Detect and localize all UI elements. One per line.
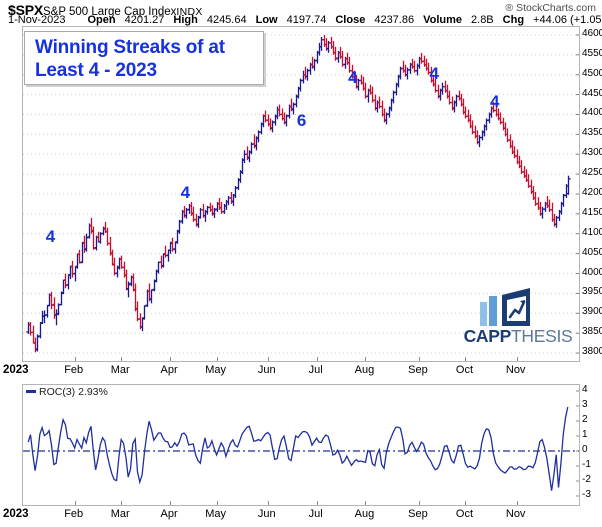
x-tick-label: Mar bbox=[111, 508, 130, 520]
open-value: 4201.27 bbox=[125, 14, 165, 26]
chart-title-line2: Least 4 - 2023 bbox=[35, 60, 157, 81]
price-y-tick-label: 3950 bbox=[582, 287, 602, 296]
roc-y-axis: 43210-1-2-3 bbox=[582, 384, 602, 504]
x-tick-label: Nov bbox=[506, 364, 526, 376]
roc-y-tick-label: -2 bbox=[582, 475, 591, 484]
quote-date: 1-Nov-2023 bbox=[8, 14, 65, 26]
roc-legend: ROC(3) 2.93% bbox=[26, 386, 108, 398]
high-label: High bbox=[173, 14, 197, 26]
low-value: 4197.74 bbox=[287, 14, 327, 26]
roc-y-tick-label: 4 bbox=[582, 385, 588, 394]
chart-title-line1: Winning Streaks of at bbox=[35, 37, 225, 58]
x-tick-label: Jul bbox=[309, 508, 323, 520]
close-label: Close bbox=[335, 14, 365, 26]
ohlc-bar bbox=[91, 227, 95, 250]
chart-title-callout: Winning Streaks of at Least 4 - 2023 bbox=[24, 31, 264, 85]
roc-legend-swatch-icon bbox=[26, 390, 36, 393]
x-tick-label: Mar bbox=[111, 364, 130, 376]
roc-y-tick-label: 2 bbox=[582, 415, 588, 424]
price-y-tick-label: 3800 bbox=[582, 347, 602, 356]
price-x-axis: 2023FebMarAprMayJunJulAugSepOctNov bbox=[0, 364, 602, 378]
logo-word-thesis: THESIS bbox=[511, 326, 572, 346]
price-y-tick-label: 3850 bbox=[582, 327, 602, 336]
price-y-tick-label: 4250 bbox=[582, 168, 602, 177]
streak-count-marker: 4 bbox=[181, 184, 190, 201]
x-tick-label: Feb bbox=[64, 508, 83, 520]
roc-y-tick-label: -3 bbox=[582, 490, 591, 499]
price-y-tick-label: 4450 bbox=[582, 89, 602, 98]
header-quote-line: 1-Nov-2023Open4201.27High4245.64Low4197.… bbox=[8, 14, 602, 26]
price-y-tick-label: 4400 bbox=[582, 108, 602, 117]
high-value: 4245.64 bbox=[207, 14, 247, 26]
chart-title-text: Winning Streaks of at Least 4 - 2023 bbox=[35, 36, 259, 82]
price-y-tick-label: 4100 bbox=[582, 228, 602, 237]
x-tick-label: 2023 bbox=[3, 364, 29, 376]
price-y-tick-label: 4050 bbox=[582, 248, 602, 257]
capthesis-logo: CAPPTHESIS bbox=[452, 288, 584, 346]
streak-count-marker: 4 bbox=[430, 65, 439, 82]
roc-plot bbox=[23, 385, 579, 505]
price-y-axis: 4600455045004450440043504300425042004150… bbox=[582, 26, 602, 360]
x-tick-label: Nov bbox=[506, 508, 526, 520]
streak-count-marker: 4 bbox=[348, 69, 357, 86]
x-tick-label: Aug bbox=[355, 508, 375, 520]
volume-value: 2.8B bbox=[471, 14, 494, 26]
x-tick-label: Oct bbox=[456, 508, 473, 520]
price-y-tick-label: 4000 bbox=[582, 268, 602, 277]
low-label: Low bbox=[256, 14, 278, 26]
x-tick-label: May bbox=[205, 364, 226, 376]
x-tick-label: Jun bbox=[258, 364, 276, 376]
roc-indicator-panel[interactable] bbox=[22, 384, 580, 506]
roc-y-tick-label: -1 bbox=[582, 460, 591, 469]
ohlc-bar bbox=[156, 262, 160, 274]
ohlc-bar bbox=[38, 322, 42, 338]
x-tick-label: 2023 bbox=[3, 508, 29, 520]
logo-word-capp: CAPP bbox=[464, 326, 511, 346]
source-watermark: ® StockCharts.com bbox=[505, 2, 596, 14]
price-y-tick-label: 4600 bbox=[582, 29, 602, 38]
x-tick-label: Feb bbox=[64, 364, 83, 376]
x-tick-label: Jun bbox=[258, 508, 276, 520]
close-value: 4237.86 bbox=[374, 14, 414, 26]
price-y-tick-label: 4350 bbox=[582, 128, 602, 137]
price-y-tick-label: 4150 bbox=[582, 208, 602, 217]
streak-count-marker: 4 bbox=[46, 228, 55, 245]
x-tick-label: Sep bbox=[408, 508, 428, 520]
ohlc-bar bbox=[142, 305, 146, 319]
logo-mark-icon bbox=[478, 288, 540, 326]
roc-y-tick-label: 0 bbox=[582, 445, 588, 454]
roc-line-series bbox=[28, 407, 568, 491]
roc-y-tick-label: 1 bbox=[582, 430, 588, 439]
price-y-tick-label: 4550 bbox=[582, 49, 602, 58]
volume-label: Volume bbox=[423, 14, 462, 26]
x-tick-label: Sep bbox=[408, 364, 428, 376]
x-tick-label: Jul bbox=[309, 364, 323, 376]
open-label: Open bbox=[87, 14, 115, 26]
x-tick-label: May bbox=[205, 508, 226, 520]
logo-wordmark: CAPPTHESIS bbox=[452, 326, 584, 347]
roc-legend-text: ROC(3) 2.93% bbox=[39, 386, 108, 398]
streak-count-marker: 4 bbox=[490, 93, 499, 110]
price-y-tick-label: 3900 bbox=[582, 307, 602, 316]
roc-y-tick-label: 3 bbox=[582, 400, 588, 409]
chg-value: +44.06 (+1.05%) bbox=[533, 14, 602, 26]
x-tick-label: Aug bbox=[355, 364, 375, 376]
chg-label: Chg bbox=[503, 14, 524, 26]
x-tick-label: Apr bbox=[160, 364, 177, 376]
x-tick-label: Apr bbox=[160, 508, 177, 520]
chart-header: $SPXS&P 500 Large Cap IndexINDX 1-Nov-20… bbox=[0, 0, 602, 26]
price-y-tick-label: 4200 bbox=[582, 188, 602, 197]
x-tick-label: Oct bbox=[456, 364, 473, 376]
roc-x-axis: 2023FebMarAprMayJunJulAugSepOctNov bbox=[0, 508, 602, 522]
price-y-tick-label: 4300 bbox=[582, 148, 602, 157]
price-y-tick-label: 4500 bbox=[582, 69, 602, 78]
streak-count-marker: 6 bbox=[297, 112, 306, 129]
